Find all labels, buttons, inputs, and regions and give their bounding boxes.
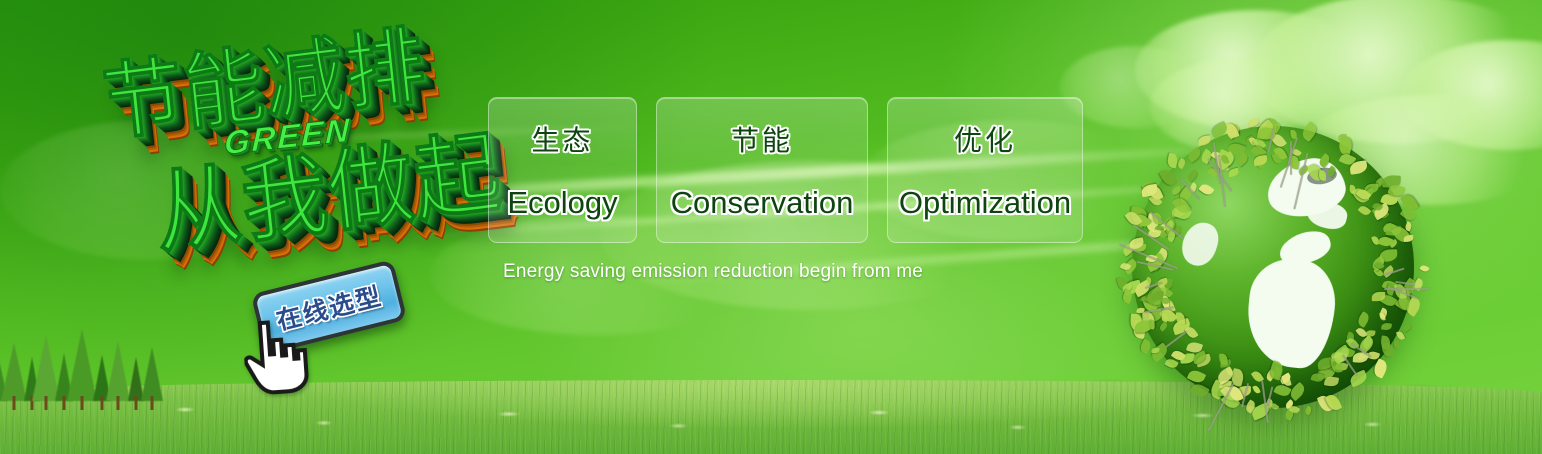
feature-card-list: 生态 Ecology 节能 Conservation 优化 Optimizati… <box>488 97 1083 243</box>
globe-leaf <box>1318 170 1326 181</box>
globe-leaf <box>1338 134 1346 140</box>
globe-leaf <box>1304 406 1313 416</box>
feature-card-cn-label: 优化 <box>954 119 1016 159</box>
leafy-earth-globe <box>1118 112 1428 422</box>
headline-line-bottom: 从我做起 <box>150 124 506 262</box>
green-energy-banner: 节能减排 GREEN 从我做起 在线选型 生态 Ecology 节能 Conse… <box>0 0 1542 454</box>
feature-card-en-label: Ecology <box>507 185 617 221</box>
headline-3d: 节能减排 GREEN 从我做起 <box>93 18 515 294</box>
feature-card-en-label: Optimization <box>899 185 1071 221</box>
feature-card-optimization[interactable]: 优化 Optimization <box>887 97 1083 243</box>
conifer-treeline <box>0 314 174 410</box>
feature-card-cn-label: 生态 <box>531 119 593 159</box>
globe-leaf <box>1402 323 1413 332</box>
hand-pointer-icon <box>241 314 312 396</box>
globe-leaf <box>1393 340 1399 349</box>
continent-shape <box>1177 218 1223 270</box>
banner-tagline: Energy saving emission reduction begin f… <box>503 261 923 283</box>
feature-card-ecology[interactable]: 生态 Ecology <box>488 97 637 243</box>
feature-card-conservation[interactable]: 节能 Conservation <box>656 97 868 243</box>
continent-shape <box>1242 254 1339 370</box>
globe-leaf <box>1381 341 1394 358</box>
globe-leaf <box>1349 184 1356 194</box>
feature-card-cn-label: 节能 <box>731 119 793 159</box>
feature-card-en-label: Conservation <box>671 185 854 221</box>
